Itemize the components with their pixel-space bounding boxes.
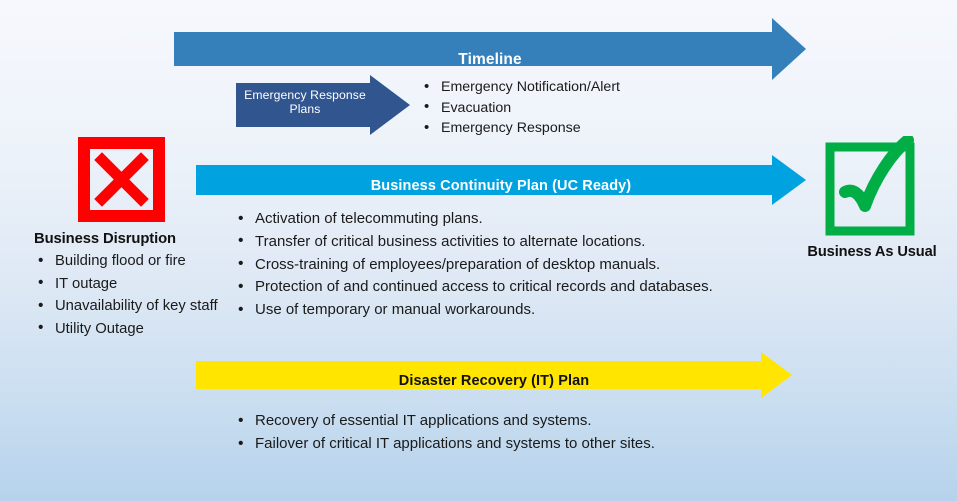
business-as-usual-label: Business As Usual [789,244,955,260]
list-item: Protection of and continued access to cr… [234,276,804,299]
red-x-icon [78,137,165,222]
list-item: Evacuation [420,98,750,119]
emergency-response-bullet-list: Emergency Notification/Alert Evacuation … [420,77,750,139]
emergency-response-plans-arrow: Emergency Response Plans [236,75,410,135]
business-disruption-bullet-list: Building flood or fire IT outage Unavail… [34,250,224,340]
list-item: Utility Outage [34,318,224,341]
list-item: Building flood or fire [34,250,224,273]
timeline-arrow-shape [174,18,806,80]
list-item: Unavailability of key staff [34,295,224,318]
timeline-arrow-label: Timeline [174,51,806,69]
emergency-response-plans-arrow-label: Emergency Response Plans [236,88,374,116]
list-item: Emergency Response [420,118,750,139]
list-item: Cross-training of employees/preparation … [234,254,804,277]
list-item: Emergency Notification/Alert [420,77,750,98]
diagram-canvas: Timeline Emergency Response Plans Emerge… [0,0,957,501]
list-item: Activation of telecommuting plans. [234,208,804,231]
disaster-recovery-plan-arrow: Disaster Recovery (IT) Plan [196,352,792,398]
list-item: Transfer of critical business activities… [234,231,804,254]
list-item: Use of temporary or manual workarounds. [234,299,804,322]
business-continuity-bullet-list: Activation of telecommuting plans. Trans… [234,208,804,322]
list-item: Recovery of essential IT applications an… [234,409,764,432]
disaster-recovery-bullet-list: Recovery of essential IT applications an… [234,409,764,455]
list-item: Failover of critical IT applications and… [234,432,764,455]
timeline-arrow: Timeline [174,18,806,80]
business-disruption-block: Business Disruption Building flood or fi… [34,231,224,340]
business-disruption-title: Business Disruption [34,231,224,247]
business-continuity-plan-arrow-label: Business Continuity Plan (UC Ready) [196,178,806,195]
list-item: IT outage [34,273,224,296]
green-check-icon [822,136,918,236]
business-continuity-plan-arrow: Business Continuity Plan (UC Ready) [196,155,806,205]
disaster-recovery-plan-arrow-label: Disaster Recovery (IT) Plan [196,373,792,390]
